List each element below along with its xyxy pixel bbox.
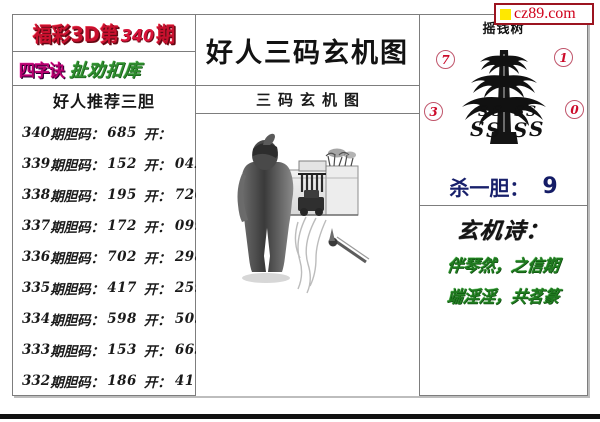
issue-title: 福彩3D第340期 (33, 18, 175, 47)
riddle-poem-title: 玄机诗： (456, 213, 552, 245)
motto-calligraphy-text: 扯劝扣库 (69, 55, 144, 82)
row-period: 335 (22, 280, 50, 296)
list-item: 334 期胆码： 598 开： 505 (13, 303, 195, 334)
row-period: 340 (22, 125, 50, 141)
man-by-wall-sketch-icon (206, 122, 406, 297)
row-period-suffix: 期胆码： (50, 340, 104, 360)
row-dan-value: 417 (104, 280, 137, 296)
row-dan-value: 153 (104, 342, 137, 358)
list-item: 340 期胆码： 685 开： (13, 117, 195, 148)
list-item: 336 期胆码： 702 开： 298 (13, 241, 195, 272)
tree-number-bottom-left: 3 (424, 102, 443, 121)
row-dan-value: 685 (104, 125, 137, 141)
row-dan-value: 702 (104, 249, 137, 265)
row-period: 334 (22, 311, 50, 327)
row-dan-value: 172 (104, 218, 137, 234)
list-item: 332 期胆码： 186 开： 417 (13, 365, 195, 396)
row-open-label: 开： (137, 154, 171, 174)
sub-title: 三码玄机图 (249, 89, 366, 110)
riddle-poem-line-1: 伴琴然，之信期 (418, 251, 589, 276)
issue-header-cell: 福彩3D第340期 (13, 15, 195, 52)
sub-title-bar: 三码玄机图 (196, 86, 419, 114)
svg-text:S: S (492, 104, 502, 120)
row-period: 333 (22, 342, 50, 358)
row-open-label: 开： (137, 278, 171, 298)
row-dan-value: 598 (104, 311, 137, 327)
row-period-suffix: 期胆码： (50, 278, 104, 298)
motto-cell: 四字诀 扯劝扣库 (13, 52, 195, 86)
row-period-suffix: 期胆码： (50, 123, 104, 143)
row-dan-value: 195 (104, 187, 137, 203)
list-item: 338 期胆码： 195 开： 720 (13, 179, 195, 210)
left-column: 福彩3D第340期 四字诀 扯劝扣库 好人推荐三胆 340 期胆码： 685 开… (13, 15, 196, 395)
row-open-label: 开： (137, 216, 171, 236)
recommend-list: 340 期胆码： 685 开： 339 期胆码： 152 开： 042 338 … (13, 113, 195, 396)
list-item: 337 期胆码： 172 开： 099 (13, 210, 195, 241)
page-title: 好人三码玄机图 (206, 31, 409, 70)
site-watermark: cz89.com (494, 3, 594, 25)
row-period: 339 (22, 156, 50, 172)
row-open-label: 开： (137, 309, 171, 329)
recommend-list-header: 好人推荐三胆 (13, 86, 195, 113)
right-column: 摇钱树 S S S (420, 15, 587, 395)
row-open-label: 开： (137, 123, 171, 143)
row-period-suffix: 期胆码： (50, 309, 104, 329)
tree-number-bottom-right: 0 (565, 100, 584, 119)
main-title-bar: 好人三码玄机图 (196, 15, 419, 86)
svg-text:S: S (529, 117, 543, 141)
row-period: 336 (22, 249, 50, 265)
row-open-label: 开： (137, 185, 171, 205)
kill-one-dan-label: 杀一胆： (449, 172, 529, 201)
poster-frame: 福彩3D第340期 四字诀 扯劝扣库 好人推荐三胆 340 期胆码： 685 开… (12, 14, 588, 396)
row-open-label: 开： (137, 371, 171, 391)
row-period: 337 (22, 218, 50, 234)
row-period: 338 (22, 187, 50, 203)
row-period-suffix: 期胆码： (50, 371, 104, 391)
list-item: 339 期胆码： 152 开： 042 (13, 148, 195, 179)
recommend-list-title: 好人推荐三胆 (53, 88, 155, 112)
money-tree-zone: S S S S S S S S 7 1 3 0 (420, 40, 587, 168)
row-period-suffix: 期胆码： (50, 247, 104, 267)
row-period-suffix: 期胆码： (50, 154, 104, 174)
riddle-poem-line-2: 端淫淫，共茗篆 (418, 282, 589, 307)
tree-number-top-right: 1 (554, 48, 573, 67)
svg-text:S: S (470, 117, 484, 141)
row-open-label: 开： (137, 340, 171, 360)
kill-one-dan-value: 9 (529, 174, 557, 199)
svg-text:S: S (526, 104, 536, 120)
middle-column: 好人三码玄机图 三码玄机图 (196, 15, 420, 395)
bottom-rule (0, 414, 600, 419)
svg-text:S: S (513, 118, 527, 142)
svg-text:S: S (514, 104, 524, 120)
row-period-suffix: 期胆码： (50, 185, 104, 205)
riddle-poem-title-wrap: 玄机诗： (420, 213, 587, 245)
row-dan-value: 152 (104, 156, 137, 172)
svg-text:S: S (478, 104, 488, 120)
issue-number: 340 (119, 25, 156, 46)
issue-prefix: 福彩3D第 (33, 23, 119, 47)
illustration-area (196, 114, 419, 396)
row-dan-value: 186 (104, 373, 137, 389)
list-item: 333 期胆码： 153 开： 663 (13, 334, 195, 365)
riddle-poem-zone: 玄机诗： 伴琴然，之信期 端淫淫，共茗篆 (420, 206, 587, 307)
money-tree-icon: S S S S S S S S (448, 40, 560, 160)
kill-one-dan-row: 杀一胆： 9 (420, 168, 587, 206)
row-period-suffix: 期胆码： (50, 216, 104, 236)
watermark-text: cz89.com (514, 6, 576, 22)
tree-number-top-left: 7 (436, 50, 455, 69)
issue-suffix: 期 (156, 23, 175, 47)
watermark-square-icon (500, 9, 511, 20)
list-item: 335 期胆码： 417 开： 259 (13, 272, 195, 303)
svg-text:S: S (486, 118, 500, 142)
row-open-label: 开： (137, 247, 171, 267)
row-period: 332 (22, 373, 50, 389)
motto-tag-label: 四字诀 (19, 56, 64, 81)
